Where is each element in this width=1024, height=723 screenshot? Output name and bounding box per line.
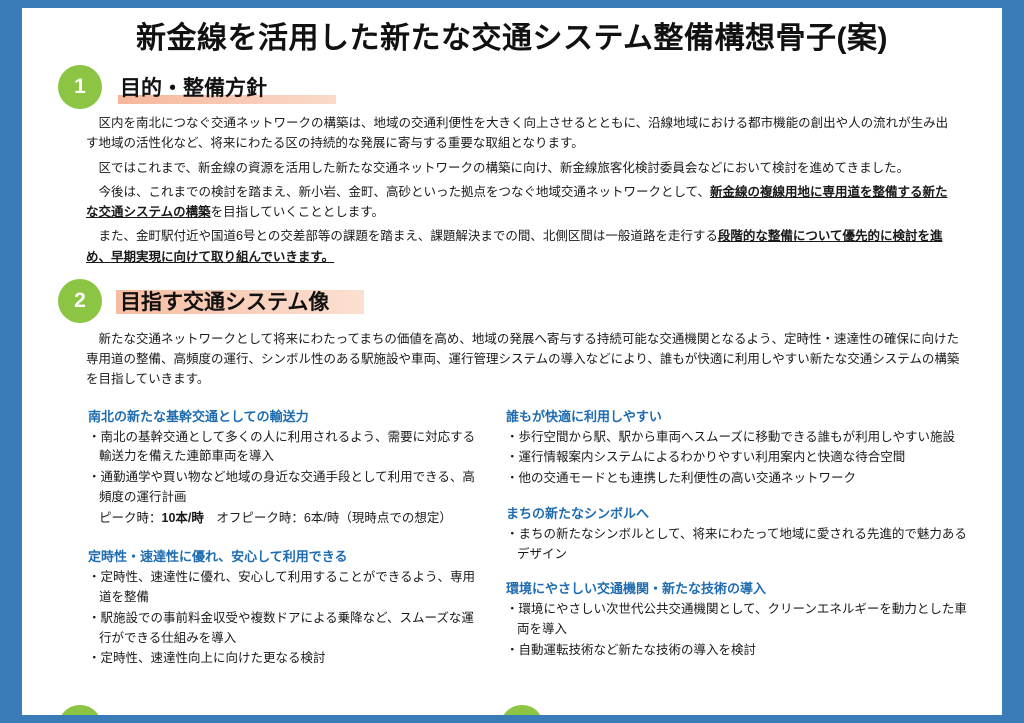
section-2-paragraph-1: 新たな交通ネットワークとして将来にわたってまちの価値を高め、地域の発展へ寄与する… [86,329,962,390]
section-4-title-wrap: 今後の取組 [560,712,669,715]
feature-block: 誰もが快適に利用しやすい ・歩行空間から駅、駅から車両へスムーズに移動できる誰も… [506,406,976,489]
bullet-item: ・まちの新たなシンボルとして、将来にわたって地域に愛される先進的で魅力あるデザイ… [506,525,976,565]
bullet-item: ・他の交通モードとも連携した利便性の高い交通ネットワーク [506,469,976,489]
peak-prefix: ピーク時： [99,511,162,525]
section-1-header: 1 目的・整備方針 [22,65,1002,109]
sub-heading: 環境にやさしい交通機関・新たな技術の導入 [506,578,976,597]
section-1-title-wrap: 目的・整備方針 [118,72,269,102]
section-2-columns: 南北の新たな基幹交通としての輸送力 ・南北の基幹交通として多くの人に利用されるよ… [88,406,976,684]
feature-block: まちの新たなシンボルへ ・まちの新たなシンボルとして、将来にわたって地域に愛され… [506,503,976,565]
bullet-item: ・環境にやさしい次世代公共交通機関として、クリーンエネルギーを動力とした車両を導… [506,600,976,640]
bottom-sections: 3 整備・運行手法 整備にあたっては、区が専用道や駅、車両などを整備・保有し、民… [22,705,978,715]
section-3-title-wrap: 整備・運行手法 [118,712,269,715]
offpeak-text: オフピーク時：6本/時（現時点での想定） [204,511,452,525]
section-4: 4 今後の取組 今後は、本構想に基づき、事業化計画の策定に着手し、早期実現を目指… [500,705,978,715]
sub-heading: 定時性・速達性に優れ、安心して利用できる [88,546,480,565]
sub-heading: 誰もが快適に利用しやすい [506,406,976,425]
section-1-paragraph-1: 区内を南北につなぐ交通ネットワークの構築は、地域の交通利便性を大きく向上させると… [86,113,958,154]
peak-value: 10本/時 [162,511,204,525]
section-1-body: 区内を南北につなぐ交通ネットワークの構築は、地域の交通利便性を大きく向上させると… [86,113,958,267]
section-3-title: 整備・運行手法 [118,712,269,715]
bullet-item: ・運行情報案内システムによるわかりやすい利用案内と快適な待合空間 [506,448,976,468]
section-2-header: 2 目指す交通システム像 [22,279,1002,323]
section-1-paragraph-3: 今後は、これまでの検討を踏まえ、新小岩、金町、高砂といった拠点をつなぐ地域交通ネ… [86,182,958,223]
feature-block: 定時性・速達性に優れ、安心して利用できる ・定時性、速達性に優れ、安心して利用す… [88,546,480,669]
section-2-number-badge: 2 [58,279,102,323]
s1-p3-text-a: 今後は、これまでの検討を踏まえ、新小岩、金町、高砂といった拠点をつなぐ地域交通ネ… [99,185,711,199]
s1-p4-text-a: また、金町駅付近や国道6号との交差部等の課題を踏まえ、課題解決までの間、北側区間… [99,229,718,243]
feature-block: 環境にやさしい交通機関・新たな技術の導入 ・環境にやさしい次世代公共交通機関とし… [506,578,976,660]
bullet-item: ・歩行空間から駅、駅から車両へスムーズに移動できる誰もが利用しやすい施設 [506,428,976,448]
section-4-number-badge: 4 [500,705,544,715]
section-3: 3 整備・運行手法 整備にあたっては、区が専用道や駅、車両などを整備・保有し、民… [22,705,500,715]
section-3-number-badge: 3 [58,705,102,715]
sub-heading: 南北の新たな基幹交通としての輸送力 [88,406,480,425]
s1-p3-text-b: を目指していくこととします。 [211,205,384,219]
bullet-item: ・定時性、速達性向上に向けた更なる検討 [88,649,480,669]
section-4-title: 今後の取組 [560,712,669,715]
section-2-title: 目指す交通システム像 [118,286,331,316]
page-title: 新金線を活用した新たな交通システム整備構想骨子(案) [22,22,1002,55]
section-2-left-column: 南北の新たな基幹交通としての輸送力 ・南北の基幹交通として多くの人に利用されるよ… [88,406,480,684]
section-4-header: 4 今後の取組 [500,705,978,715]
sub-heading: まちの新たなシンボルへ [506,503,976,522]
section-1-title: 目的・整備方針 [118,72,269,102]
bullet-item: ・南北の基幹交通として多くの人に利用されるよう、需要に対応する輸送力を備えた連節… [88,428,480,468]
frequency-line: ピーク時：10本/時 オフピーク時：6本/時（現時点での想定） [88,509,480,529]
bullet-item: ・駅施設での事前料金収受や複数ドアによる乗降など、スムーズな運行ができる仕組みを… [88,609,480,649]
feature-block: 南北の新たな基幹交通としての輸送力 ・南北の基幹交通として多くの人に利用されるよ… [88,406,480,529]
bullet-item: ・定時性、速達性に優れ、安心して利用することができるよう、専用道を整備 [88,568,480,608]
bullet-item: ・通勤通学や買い物など地域の身近な交通手段として利用できる、高頻度の運行計画 [88,468,480,508]
section-1-paragraph-2: 区ではこれまで、新金線の資源を活用した新たな交通ネットワークの構築に向け、新金線… [86,158,958,178]
section-2-title-wrap: 目指す交通システム像 [118,286,331,316]
section-1-paragraph-4: また、金町駅付近や国道6号との交差部等の課題を踏まえ、課題解決までの間、北側区間… [86,226,958,267]
section-3-header: 3 整備・運行手法 [22,705,500,715]
section-1-number-badge: 1 [58,65,102,109]
section-2-right-column: 誰もが快適に利用しやすい ・歩行空間から駅、駅から車両へスムーズに移動できる誰も… [506,406,976,684]
bullet-item: ・自動運転技術など新たな技術の導入を検討 [506,641,976,661]
section-2-body: 新たな交通ネットワークとして将来にわたってまちの価値を高め、地域の発展へ寄与する… [86,329,962,390]
document-page: 新金線を活用した新たな交通システム整備構想骨子(案) 1 目的・整備方針 区内を… [22,8,1002,715]
